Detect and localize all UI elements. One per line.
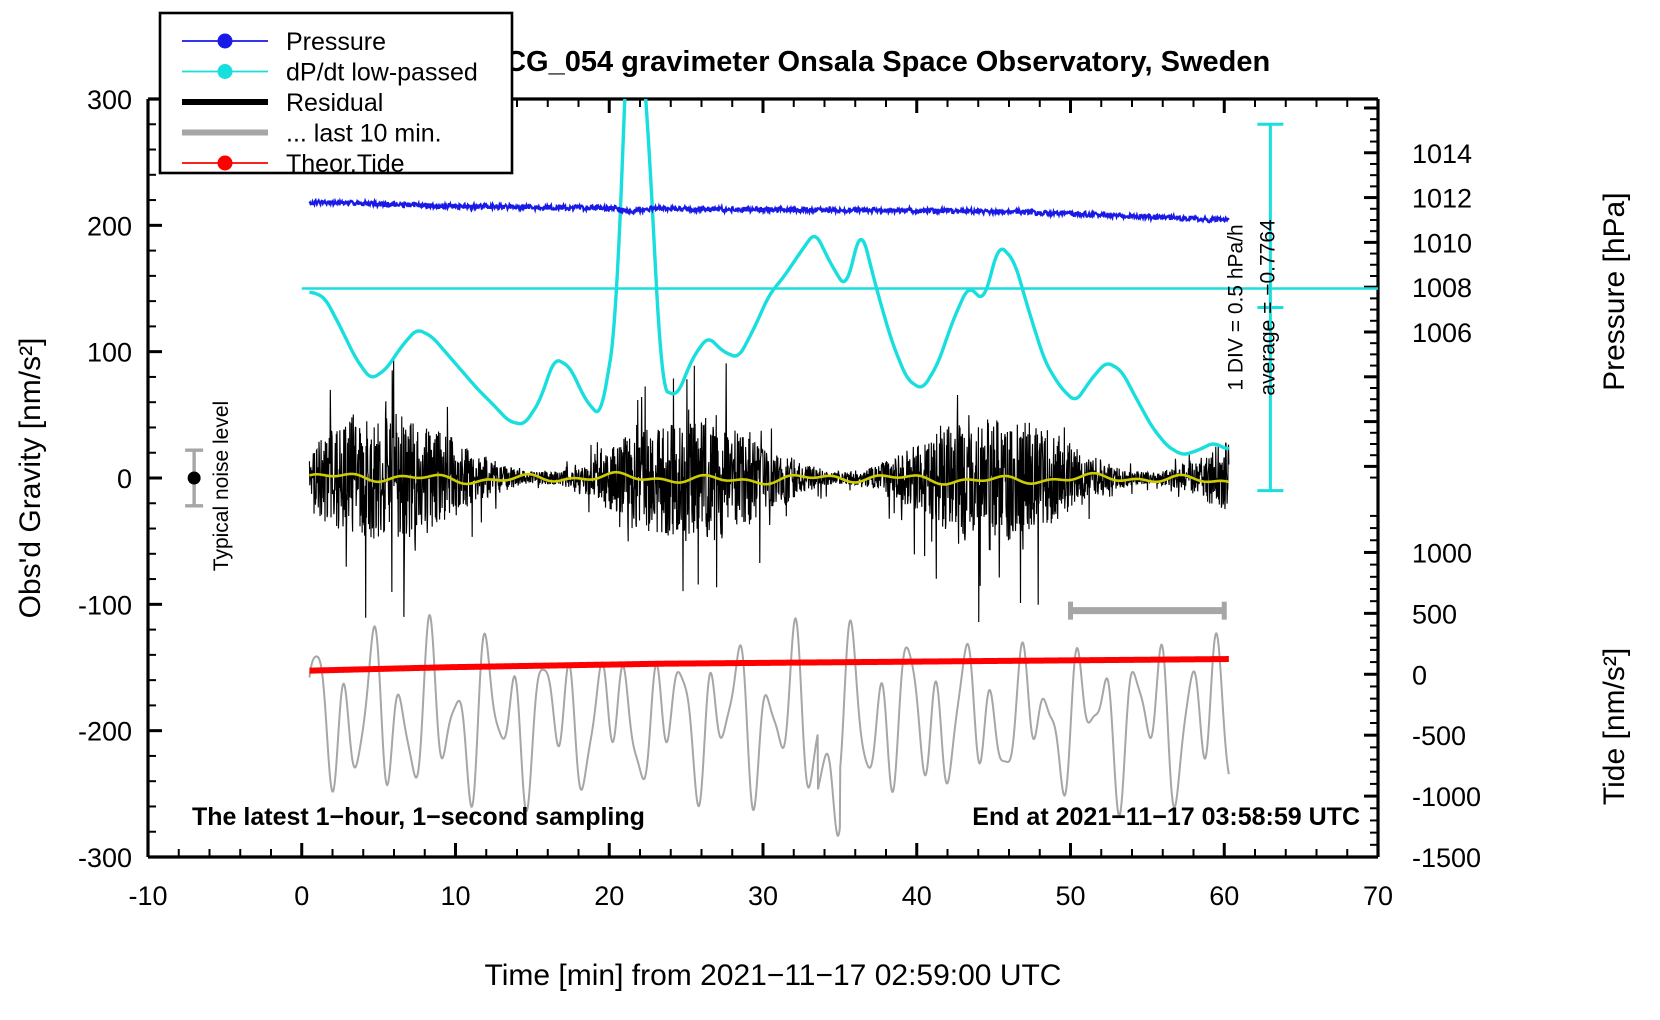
- x-tick-label: 20: [594, 881, 624, 911]
- tide-tick-label: 0: [1412, 660, 1427, 690]
- tide-tick-label: -1500: [1412, 843, 1481, 873]
- legend-item-label[interactable]: Pressure: [286, 28, 386, 56]
- tide-axis-title: Tide [nm/s²]: [1598, 648, 1631, 805]
- legend-marker-circle-icon: [218, 64, 233, 79]
- pressure-tick-label: 1008: [1412, 273, 1472, 303]
- x-tick-label: 60: [1209, 881, 1239, 911]
- legend-item-label[interactable]: Theor.Tide: [286, 150, 405, 178]
- gravimeter-chart: The latest 1−hour, 1−second samplingEnd …: [0, 0, 1660, 1020]
- pressure-axis-title: Pressure [hPa]: [1598, 192, 1631, 390]
- div-scale-label: 1 DIV = 0.5 hPa/h: [1224, 224, 1247, 390]
- x-tick-label: -10: [128, 881, 167, 911]
- x-tick-label: 30: [748, 881, 778, 911]
- legend-item-label[interactable]: Residual: [286, 89, 383, 117]
- tide-tick-label: 500: [1412, 599, 1457, 629]
- chart-title: SCG_054 gravimeter Onsala Space Observat…: [486, 46, 1270, 78]
- y-tick-label: 100: [87, 338, 132, 368]
- noise-level-label: Typical noise level: [210, 401, 233, 571]
- pressure-tick-label: 1014: [1412, 139, 1472, 169]
- legend-item-label[interactable]: ... last 10 min.: [286, 120, 442, 148]
- y-axis-title: Obs'd Gravity [nm/s²]: [14, 338, 47, 619]
- tide-tick-label: -500: [1412, 721, 1466, 751]
- noise-marker: [188, 472, 201, 485]
- x-tick-label: 40: [902, 881, 932, 911]
- y-tick-label: 200: [87, 211, 132, 241]
- tide-tick-label: -1000: [1412, 782, 1481, 812]
- pressure-tick-label: 1010: [1412, 228, 1472, 258]
- pressure-tick-label: 1012: [1412, 184, 1472, 214]
- legend-item-label[interactable]: dP/dt low-passed: [286, 59, 478, 87]
- x-tick-label: 70: [1363, 881, 1393, 911]
- legend-marker-circle-icon: [218, 156, 233, 171]
- y-tick-label: -100: [78, 590, 132, 620]
- y-tick-label: 0: [117, 464, 132, 494]
- x-axis-title: Time [min] from 2021−11−17 02:59:00 UTC: [485, 959, 1062, 992]
- y-tick-label: -200: [78, 717, 132, 747]
- tide-tick-label: 1000: [1412, 538, 1472, 568]
- bottom-left-note: The latest 1−hour, 1−second sampling: [192, 803, 645, 831]
- pressure-tick-label: 1006: [1412, 318, 1472, 348]
- bottom-right-note: End at 2021−11−17 03:58:59 UTC: [972, 803, 1360, 831]
- chart-root: The latest 1−hour, 1−second samplingEnd …: [0, 0, 1660, 1020]
- y-tick-label: -300: [78, 843, 132, 873]
- x-tick-label: 10: [440, 881, 470, 911]
- average-label: average = −0.7764: [1256, 219, 1279, 396]
- legend-marker-circle-icon: [218, 34, 233, 49]
- y-tick-label: 300: [87, 85, 132, 115]
- legend-group[interactable]: PressuredP/dt low-passedResidual... last…: [160, 13, 512, 178]
- x-tick-label: 0: [294, 881, 309, 911]
- x-tick-label: 50: [1055, 881, 1085, 911]
